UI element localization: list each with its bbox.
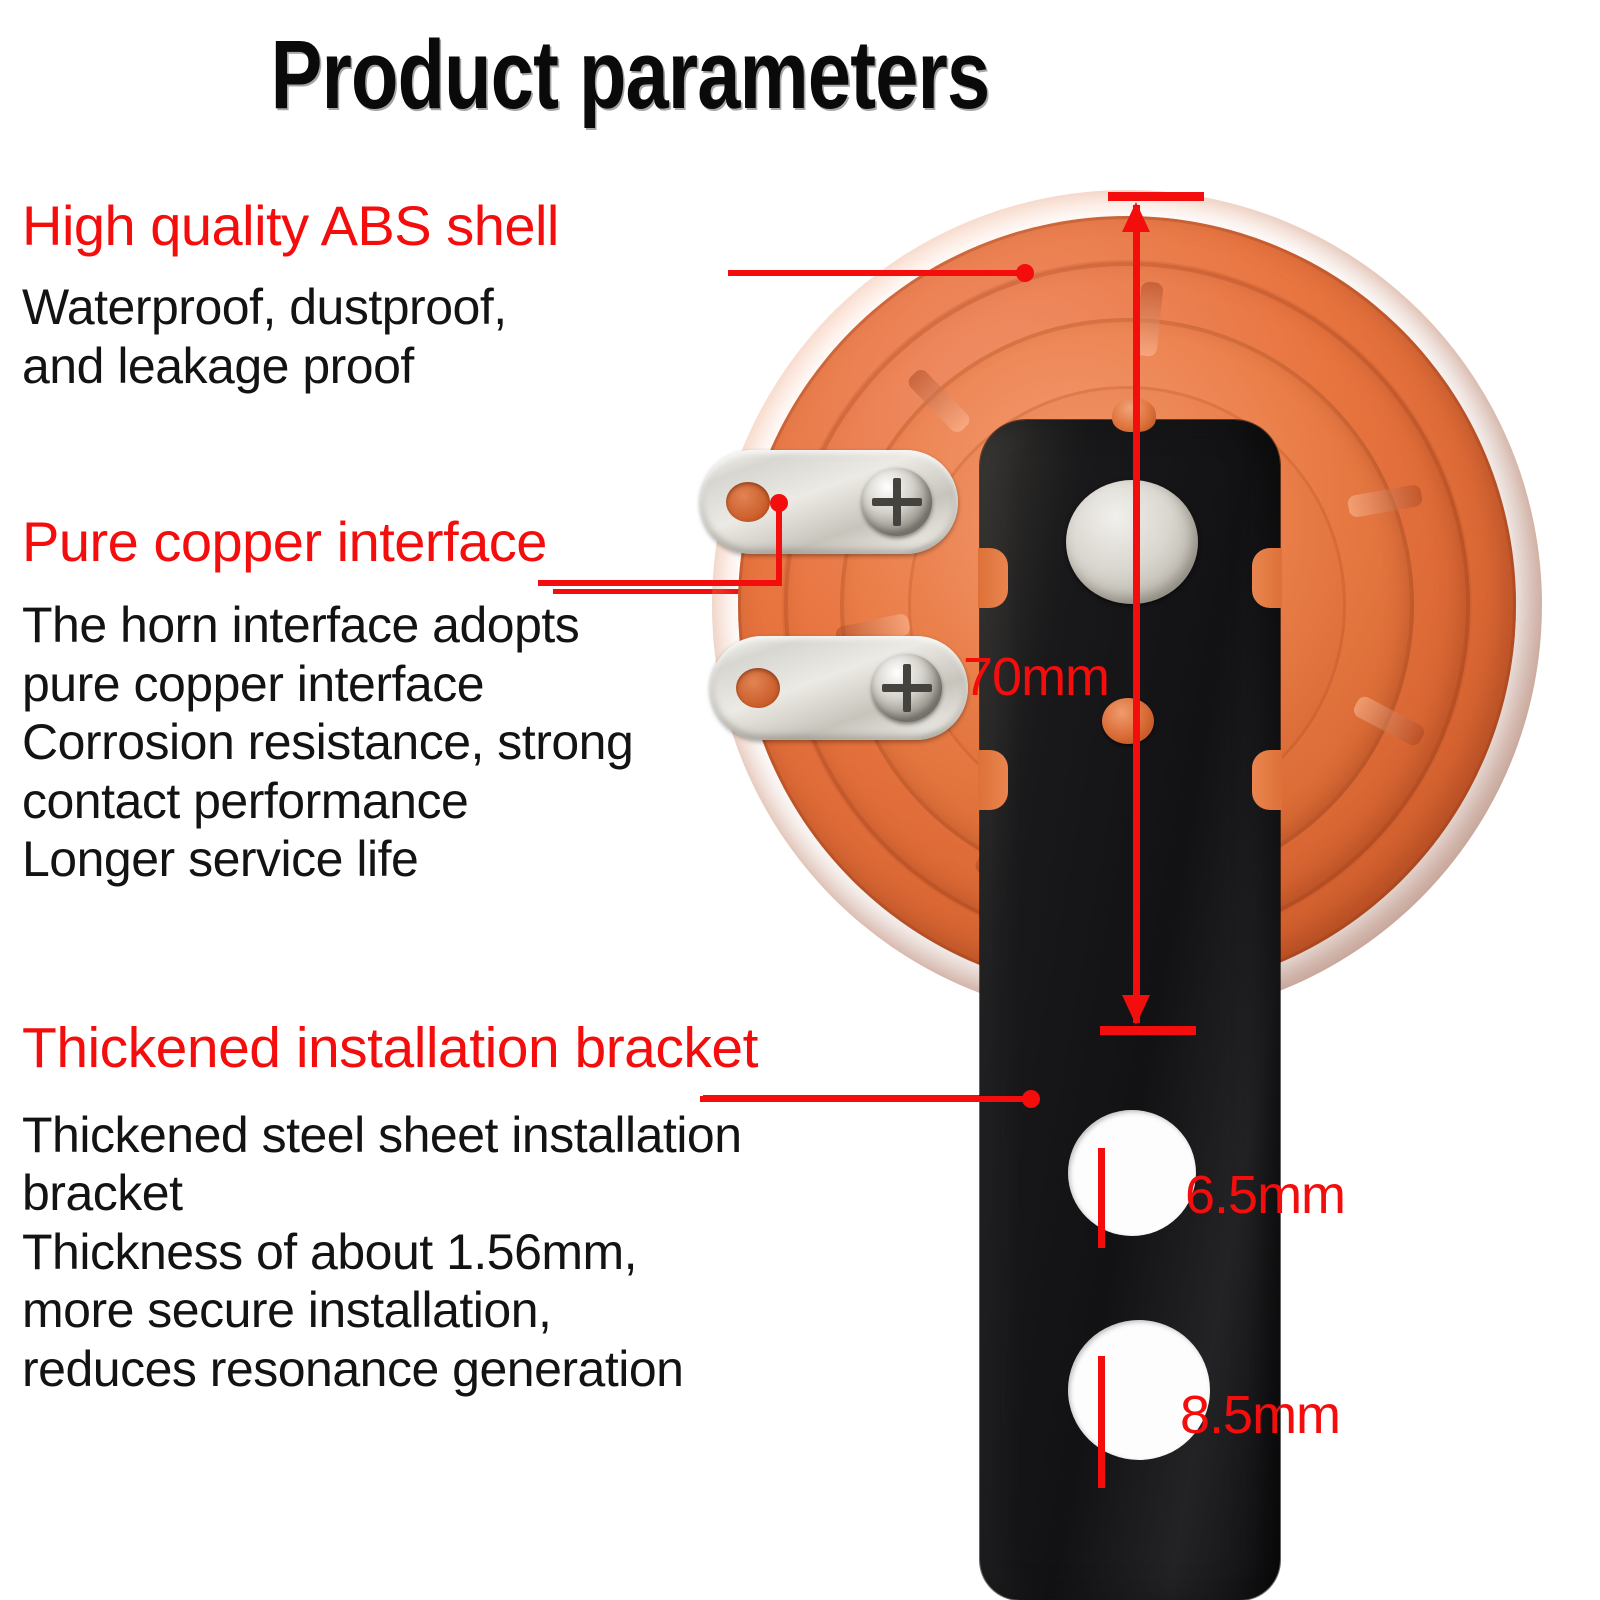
feature-block-copper-interface: Pure copper interface The horn interface… — [22, 512, 633, 889]
dimension-line-70mm — [1133, 205, 1140, 1023]
terminal-eyelet — [736, 668, 780, 708]
product-photo — [690, 170, 1600, 1600]
terminal-eyelet — [726, 482, 770, 522]
feature-block-abs-shell: High quality ABS shell Waterproof, dustp… — [22, 196, 559, 395]
leader-line-abs-shell — [728, 270, 1028, 276]
dimension-label-70mm: 70mm — [963, 650, 1109, 704]
dimension-label-8-5mm: 8.5mm — [1180, 1388, 1340, 1442]
feature-line: more secure installation, — [22, 1281, 758, 1340]
feature-line: and leakage proof — [22, 337, 559, 396]
bracket-rivet-boss — [1066, 480, 1198, 604]
dimension-label-6-5mm: 6.5mm — [1185, 1168, 1345, 1222]
feature-line: contact performance — [22, 772, 633, 831]
bracket-notch — [1252, 548, 1282, 608]
leader-line-copper-horizontal — [538, 580, 782, 586]
feature-line: Longer service life — [22, 830, 633, 889]
feature-heading-bracket: Thickened installation bracket — [22, 1018, 758, 1080]
bracket-notch — [978, 750, 1008, 810]
feature-line: pure copper interface — [22, 655, 633, 714]
feature-line: reduces resonance generation — [22, 1340, 758, 1399]
leader-dot-bracket — [1022, 1090, 1040, 1108]
feature-line: Thickness of about 1.56mm, — [22, 1223, 758, 1282]
leader-line-bracket — [700, 1096, 1030, 1102]
hole-marker-small — [1098, 1148, 1105, 1248]
bracket-notch — [1252, 750, 1282, 810]
copper-spade-terminal-upper — [700, 450, 958, 554]
dimension-tick-top — [1108, 192, 1204, 201]
mounting-hole-small — [1068, 1110, 1196, 1236]
dimension-arrow-bottom — [1122, 995, 1150, 1025]
bracket-locating-pin — [1102, 698, 1154, 744]
feature-body-abs-shell: Waterproof, dustproof, and leakage proof — [22, 278, 559, 395]
feature-heading-copper-interface: Pure copper interface — [22, 512, 633, 572]
terminal-screw — [862, 468, 932, 536]
feature-line: Corrosion resistance, strong — [22, 713, 633, 772]
copper-spade-terminal-lower — [710, 636, 968, 740]
terminal-screw — [872, 654, 942, 722]
screw-slot — [872, 498, 922, 506]
feature-line: Thickened steel sheet installation — [22, 1106, 758, 1165]
leader-dot-copper — [770, 494, 788, 512]
bracket-notch — [978, 548, 1008, 608]
feature-heading-abs-shell: High quality ABS shell — [22, 196, 559, 256]
feature-line: The horn interface adopts — [22, 596, 633, 655]
hole-marker-large — [1098, 1356, 1105, 1488]
leader-dot-abs-shell — [1016, 264, 1034, 282]
feature-line: Waterproof, dustproof, — [22, 278, 559, 337]
dimension-tick-bottom — [1100, 1026, 1196, 1035]
feature-body-bracket: Thickened steel sheet installation brack… — [22, 1106, 758, 1399]
screw-slot — [882, 684, 932, 692]
feature-line: bracket — [22, 1164, 758, 1223]
dimension-arrow-top — [1122, 202, 1150, 232]
feature-block-bracket: Thickened installation bracket Thickened… — [22, 1018, 758, 1398]
feature-body-copper-interface: The horn interface adopts pure copper in… — [22, 596, 633, 889]
page-title: Product parameters — [126, 24, 1134, 126]
leader-line-copper-vertical — [776, 500, 782, 586]
